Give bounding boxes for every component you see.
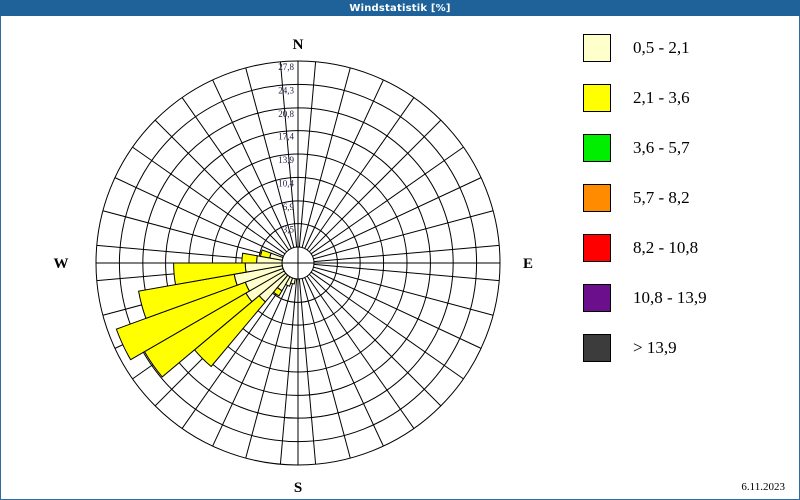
- radial-tick-label: 6,9: [283, 202, 295, 212]
- grid-spoke: [115, 178, 284, 257]
- windrose-petal-segment[interactable]: [242, 253, 257, 263]
- legend-item-label: 0,5 - 2,1: [633, 38, 690, 58]
- grid-spoke: [309, 274, 441, 406]
- legend-item[interactable]: 2,1 - 3,6: [583, 84, 793, 112]
- radial-tick-label: 10,4: [278, 178, 294, 188]
- grid-spoke: [311, 147, 463, 254]
- grid-spoke: [313, 270, 482, 349]
- legend-item[interactable]: 3,6 - 5,7: [583, 134, 793, 162]
- window-title-bar: Windstatistik [%]: [0, 0, 800, 16]
- legend-item-label: 10,8 - 13,9: [633, 288, 707, 308]
- window-title: Windstatistik [%]: [349, 3, 450, 14]
- legend-color-swatch: [583, 334, 611, 362]
- grid-spoke: [311, 272, 463, 379]
- legend-color-swatch: [583, 84, 611, 112]
- legend-item[interactable]: 10,8 - 13,9: [583, 284, 793, 312]
- radial-tick-label: 27,8: [278, 62, 294, 72]
- legend-item[interactable]: > 13,9: [583, 334, 793, 362]
- grid-spoke: [313, 178, 482, 257]
- compass-label-south: S: [278, 480, 318, 497]
- footer-date: 6.11.2023: [741, 481, 785, 493]
- radial-tick-label: 20,8: [278, 109, 294, 119]
- legend-panel: 0,5 - 2,12,1 - 3,63,6 - 5,75,7 - 8,28,2 …: [561, 16, 799, 498]
- radial-tick-label: 24,3: [278, 85, 294, 95]
- windrose-axis-labels: 3,56,910,413,917,420,824,327,8: [278, 62, 294, 235]
- legend-item-label: 3,6 - 5,7: [633, 138, 690, 158]
- compass-label-east: E: [508, 256, 548, 273]
- legend-item[interactable]: 8,2 - 10,8: [583, 234, 793, 262]
- windrose-grid: [96, 61, 500, 465]
- windrose-window: Windstatistik [%] 3,56,910,413,917,420,8…: [0, 0, 800, 500]
- compass-label-west: W: [41, 256, 81, 273]
- legend-item-label: > 13,9: [633, 338, 677, 358]
- legend-item-label: 5,7 - 8,2: [633, 188, 690, 208]
- legend-item[interactable]: 5,7 - 8,2: [583, 184, 793, 212]
- legend-item-label: 2,1 - 3,6: [633, 88, 690, 108]
- legend-color-swatch: [583, 34, 611, 62]
- grid-spoke: [305, 278, 384, 447]
- windrose-petal-segment[interactable]: [260, 250, 271, 258]
- legend-color-swatch: [583, 184, 611, 212]
- grid-spoke: [133, 147, 285, 254]
- legend-color-swatch: [583, 284, 611, 312]
- radial-tick-label: 13,9: [278, 155, 294, 165]
- grid-spoke: [182, 98, 289, 250]
- legend-item-label: 8,2 - 10,8: [633, 238, 698, 258]
- radial-tick-label: 17,4: [278, 132, 294, 142]
- windrose-svg: 3,56,910,413,917,420,824,327,8: [1, 16, 561, 498]
- legend-color-swatch: [583, 134, 611, 162]
- windrose-plot: 3,56,910,413,917,420,824,327,8 N S W E: [1, 16, 561, 498]
- radial-tick-label: 3,5: [283, 225, 295, 235]
- window-client-area: 3,56,910,413,917,420,824,327,8 N S W E 0…: [0, 16, 800, 500]
- grid-spoke: [309, 120, 441, 252]
- legend-item[interactable]: 0,5 - 2,1: [583, 34, 793, 62]
- grid-spoke: [307, 276, 414, 428]
- grid-spoke: [155, 120, 287, 252]
- grid-spoke: [307, 98, 414, 250]
- grid-spoke: [305, 80, 384, 249]
- legend-color-swatch: [583, 234, 611, 262]
- compass-label-north: N: [278, 37, 318, 54]
